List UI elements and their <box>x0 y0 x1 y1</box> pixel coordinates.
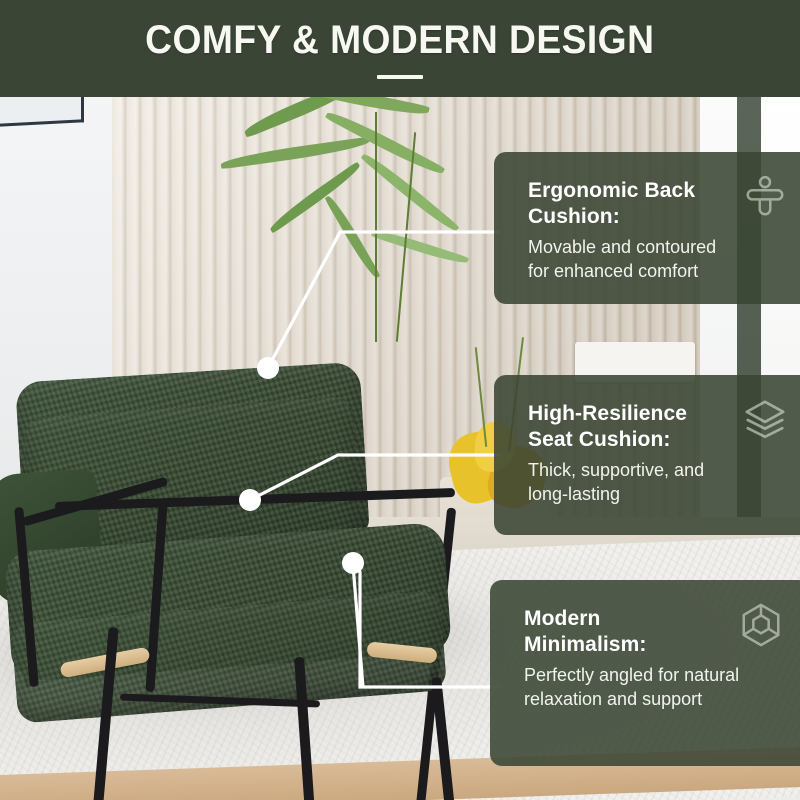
chair-leg-rear-right <box>431 677 459 800</box>
feature-title-line-1: High-Resilience <box>528 402 687 425</box>
feature-body-line-2: relaxation and support <box>524 689 702 709</box>
feature-card-body: Thick, supportive, and long-lasting <box>528 459 784 507</box>
page-title: COMFY & MODERN DESIGN <box>145 18 654 63</box>
feature-body-line-2: long-lasting <box>528 484 620 504</box>
wall-picture-frame <box>0 97 84 127</box>
product-feature-graphic: COMFY & MODERN DESIGN Ergonomic Back Cus… <box>0 0 800 800</box>
accent-armchair <box>0 257 500 800</box>
feature-body-line-2: for enhanced comfort <box>528 261 698 281</box>
feature-card-ergonomic-back-cushion[interactable]: Ergonomic Back Cushion: Movable and cont… <box>494 152 800 304</box>
feature-title-line-1: Ergonomic Back <box>528 179 695 202</box>
feature-title-line-2: Minimalism: <box>524 633 646 656</box>
feature-card-body: Perfectly angled for natural relaxation … <box>524 664 780 712</box>
title-divider <box>377 75 423 79</box>
feature-card-body: Movable and contoured for enhanced comfo… <box>528 236 784 284</box>
person-ergonomic-icon <box>742 174 788 220</box>
feature-body-line-1: Movable and contoured <box>528 237 716 257</box>
feature-body-line-1: Thick, supportive, and <box>528 460 704 480</box>
feature-body-line-1: Perfectly angled for natural <box>524 665 739 685</box>
feature-card-high-resilience-seat-cushion[interactable]: High-Resilience Seat Cushion: Thick, sup… <box>494 375 800 535</box>
feature-title-line-2: Cushion: <box>528 205 620 228</box>
feature-title-line-2: Seat Cushion: <box>528 428 670 451</box>
feature-title-line-1: Modern <box>524 607 600 630</box>
feature-card-modern-minimalism[interactable]: Modern Minimalism: Perfectly angled for … <box>490 580 800 766</box>
cube-3d-icon <box>738 602 784 648</box>
header-banner: COMFY & MODERN DESIGN <box>0 0 800 97</box>
layers-stack-icon <box>742 397 788 443</box>
